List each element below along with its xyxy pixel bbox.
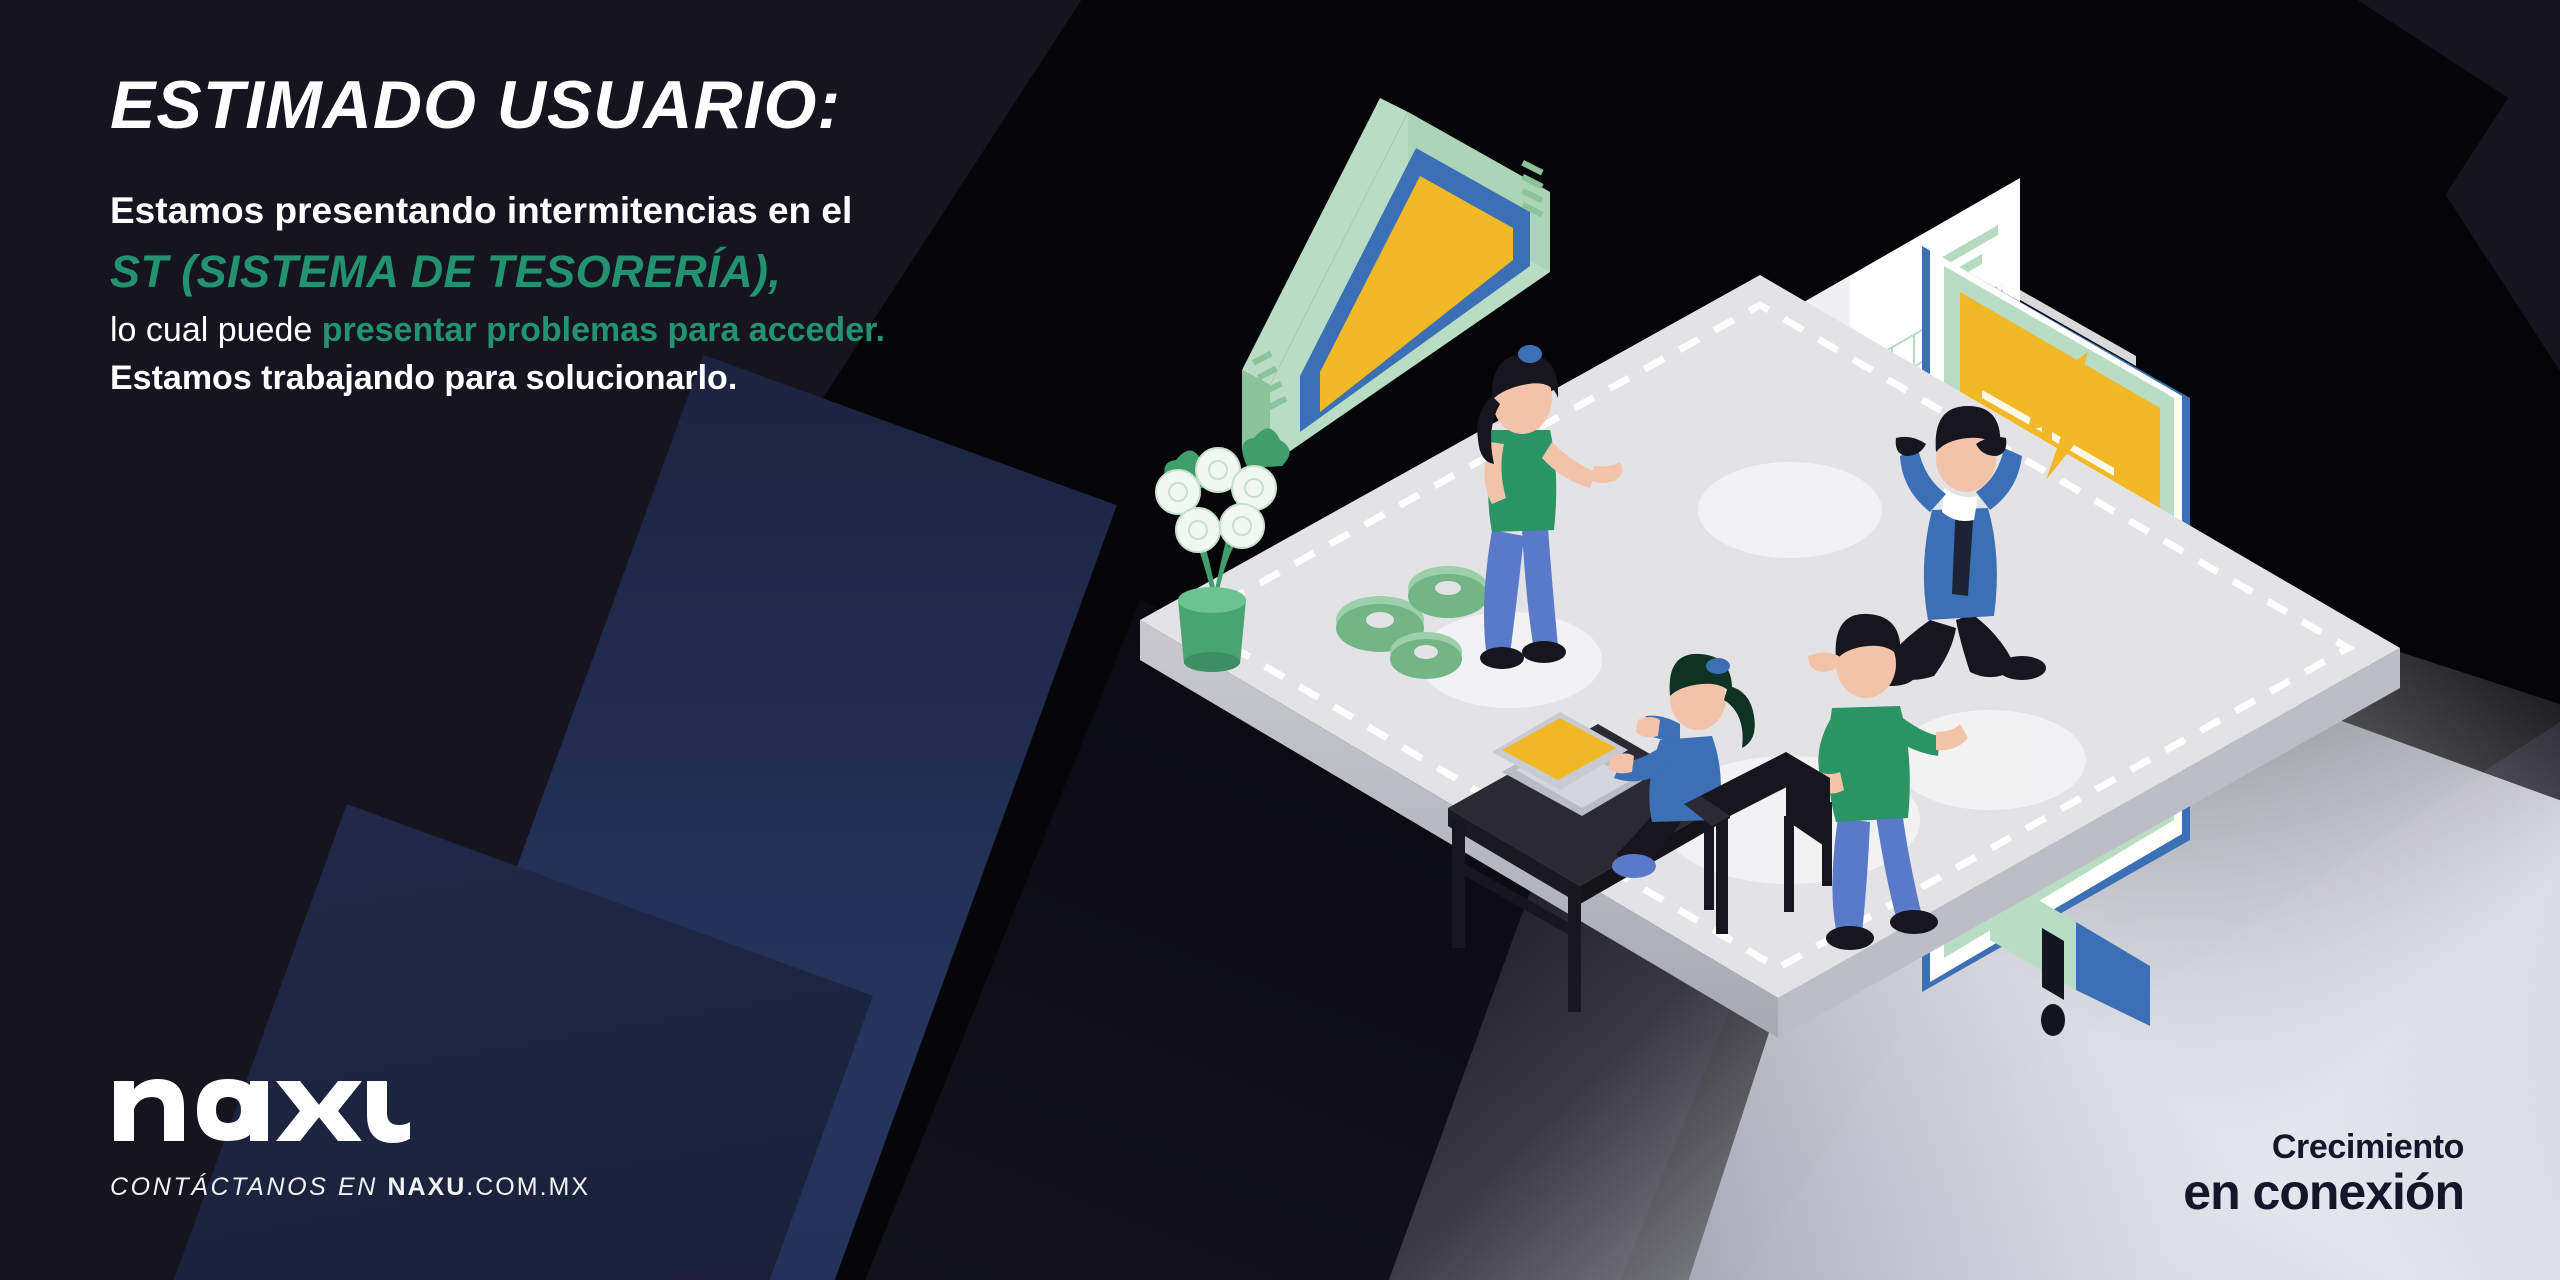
body-line-4: Estamos trabajando para solucionarlo. <box>110 356 1230 401</box>
naxu-logo <box>110 1059 590 1143</box>
tagline-block: Crecimiento en conexión <box>2183 1130 2464 1219</box>
body-line-1: Estamos presentando intermitencias en el <box>110 187 1230 236</box>
contact-brand: NAXU <box>387 1173 466 1201</box>
body-line-2-system-name: ST (SISTEMA DE TESORERÍA), <box>110 242 1230 301</box>
body-line-3: lo cual puede presentar problemas para a… <box>110 308 1230 353</box>
tagline-line-2: en conexión <box>2183 1166 2464 1219</box>
body-line-3-plain: lo cual puede <box>110 311 322 349</box>
copy-block: ESTIMADO USUARIO: Estamos presentando in… <box>110 70 1230 401</box>
contact-domain: .COM.MX <box>466 1173 590 1201</box>
announcement-banner: ESTIMADO USUARIO: Estamos presentando in… <box>0 0 2560 1280</box>
brand-block: CONTÁCTANOS EN NAXU.COM.MX <box>110 1059 590 1202</box>
exclamation-mark <box>2041 928 2065 1036</box>
isometric-illustration <box>1230 60 2560 1220</box>
contact-line: CONTÁCTANOS EN NAXU.COM.MX <box>110 1173 590 1202</box>
page-title: ESTIMADO USUARIO: <box>110 70 1230 141</box>
tagline-line-1: Crecimiento <box>2183 1130 2464 1164</box>
contact-prefix: CONTÁCTANOS EN <box>110 1173 387 1201</box>
body-line-3-highlight: presentar problemas para acceder. <box>322 311 885 349</box>
